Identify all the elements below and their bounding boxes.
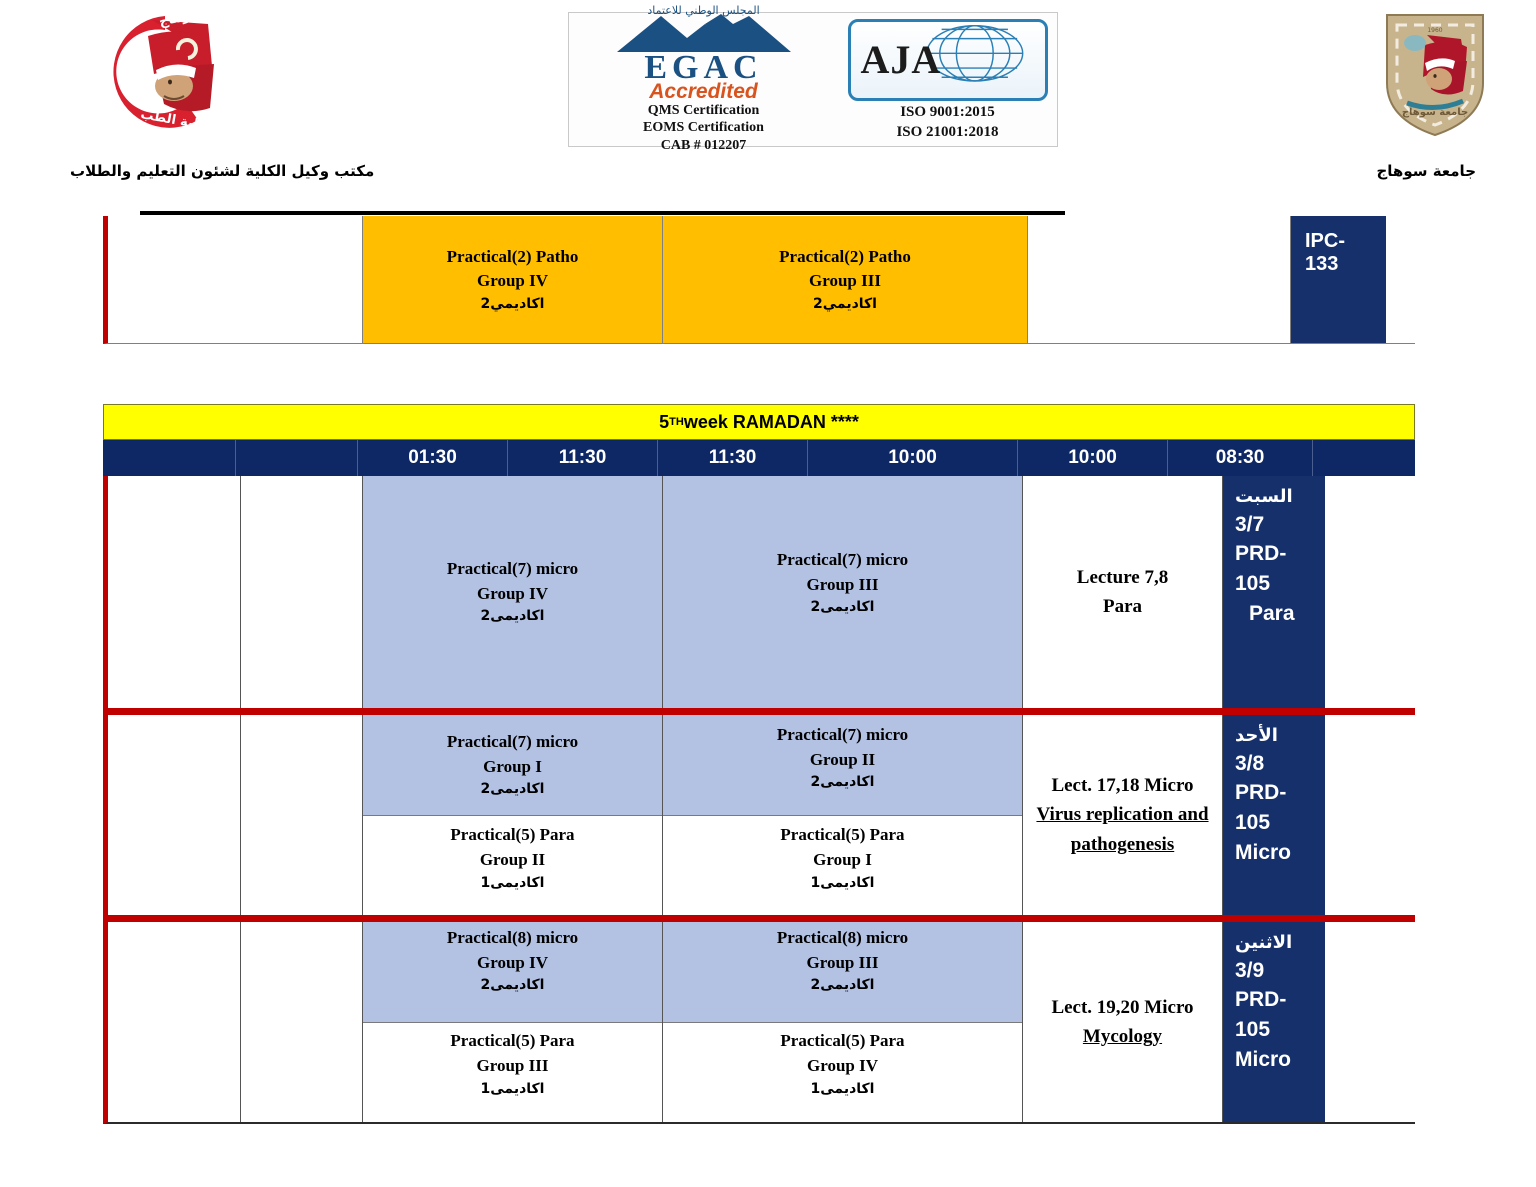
time-header-0130: 01:30	[358, 440, 508, 476]
sat-right-line1: Practical(7) micro	[777, 548, 908, 573]
aja-line-2: ISO 21001:2018	[848, 123, 1048, 141]
top-course-code: IPC- 133	[1291, 216, 1386, 343]
sun-right-room: اكاديمى2	[777, 772, 908, 792]
mon-right-line1: Practical(8) micro	[777, 926, 908, 951]
sunday-slot-right[interactable]: Practical(7) micro Group II اكاديمى2 Pra…	[663, 715, 1023, 915]
sunday-practical-micro-group1[interactable]: Practical(7) micro Group I اكاديمى2	[363, 715, 662, 816]
egac-line-1: QMS Certification	[579, 103, 829, 120]
monday-date: 3/9	[1235, 956, 1264, 986]
egac-accredited-label: Accredited	[579, 81, 829, 102]
top-cell-practical-patho-group3[interactable]: Practical(2) Patho Group III اكاديمي2	[663, 216, 1028, 343]
sun-left2-line2: Group II	[450, 848, 574, 873]
time-header-blank-3	[1313, 440, 1415, 476]
saturday-date: 3/7	[1235, 510, 1264, 540]
vice-dean-office-label: مكتب وكيل الكلية لشئون التعليم والطلاب	[70, 162, 374, 180]
sat-right-room: اكاديمى2	[777, 597, 908, 617]
aja-line-1: ISO 9001:2015	[848, 103, 1048, 121]
egac-line-2: EOMS Certification	[579, 120, 829, 137]
monday-empty-2	[241, 922, 363, 1122]
saturday-code-2: 105	[1235, 569, 1270, 599]
top-cell-1-line2: Group IV	[447, 269, 579, 294]
page-header: جامعة سوهاج كلية الطب المجلس الوطني للاع…	[0, 0, 1536, 200]
sun-right2-line2: Group I	[780, 848, 904, 873]
sun-right2-line1: Practical(5) Para	[780, 823, 904, 848]
mon-right-line2: Group III	[777, 951, 908, 976]
week-banner-ordinal-suffix: TH	[669, 416, 684, 428]
sat-lecture-line2: Para	[1077, 592, 1168, 621]
sunday-day-column: الأحد 3/8 PRD- 105 Micro	[1223, 715, 1325, 915]
sunday-code-2: 105	[1235, 808, 1270, 838]
mon-right2-line1: Practical(5) Para	[780, 1029, 904, 1054]
aja-wordmark: AJA	[861, 36, 942, 83]
top-course-code-line1: IPC-	[1305, 230, 1345, 253]
sun-lecture-topic: Virus replication and pathogenesis	[1036, 804, 1208, 854]
time-header-blank-2	[236, 440, 358, 476]
sunday-day-name: الأحد	[1235, 723, 1278, 749]
weekly-schedule-table: 5TH week RAMADAN **** 01:30 11:30 11:30 …	[103, 404, 1415, 1124]
aja-globe-icon: AJA	[848, 19, 1048, 101]
monday-practical-para-group4[interactable]: Practical(5) Para Group IV اكاديمى1	[663, 1023, 1022, 1123]
time-header-row: 01:30 11:30 11:30 10:00 10:00 08:30	[103, 440, 1415, 476]
aja-badge: AJA ISO 9001:2015 ISO 21001:2018	[848, 19, 1048, 141]
mon-lecture-prefix: Lect. 19,20 Micro	[1051, 993, 1193, 1022]
schedule-row-sunday: Practical(7) micro Group I اكاديمى2 Prac…	[103, 708, 1415, 915]
sun-right-line2: Group II	[777, 748, 908, 773]
monday-lecture-text: Lect. 19,20 Micro Mycology	[1023, 922, 1222, 1122]
top-course-code-line2: 133	[1305, 253, 1345, 276]
saturday-day-column: السبت 3/7 PRD- 105 Para	[1223, 476, 1325, 708]
saturday-slot-left[interactable]: Practical(7) micro Group IV اكاديمى2	[363, 476, 663, 708]
egac-mountain-icon	[609, 12, 799, 52]
mon-left2-line1: Practical(5) Para	[450, 1029, 574, 1054]
mon-left-line2: Group IV	[447, 951, 578, 976]
sun-left-room: اكاديمى2	[447, 779, 578, 799]
university-name-label: جامعة سوهاج	[1376, 162, 1476, 180]
top-cell-1-room: اكاديمي2	[447, 294, 579, 314]
top-cell-2-line2: Group III	[779, 269, 911, 294]
sunday-lecture-cell[interactable]: Lect. 17,18 Micro Virus replication and …	[1023, 715, 1223, 915]
sunday-date: 3/8	[1235, 749, 1264, 779]
sunday-empty-2	[241, 715, 363, 915]
sun-lecture-prefix: Lect. 17,18 Micro	[1051, 775, 1193, 796]
certification-badges: المجلس الوطني للاعتماد EGAC Accredited Q…	[568, 12, 1058, 147]
week-banner: 5TH week RAMADAN ****	[103, 404, 1415, 440]
mon-right-room: اكاديمى2	[777, 975, 908, 995]
mon-lecture-topic: Mycology	[1083, 1022, 1162, 1051]
monday-slot-left[interactable]: Practical(8) micro Group IV اكاديمى2 Pra…	[363, 922, 663, 1122]
svg-text:1960: 1960	[1427, 27, 1442, 34]
sunday-code-1: PRD-	[1235, 778, 1286, 808]
sat-left-room: اكاديمى2	[447, 606, 578, 626]
saturday-subject: Para	[1235, 599, 1295, 629]
mon-right2-line2: Group IV	[780, 1054, 904, 1079]
week-banner-rest: week RAMADAN ****	[684, 412, 859, 433]
saturday-empty-1	[108, 476, 241, 708]
sunday-practical-para-group2[interactable]: Practical(5) Para Group II اكاديمى1	[363, 816, 662, 916]
egac-badge: المجلس الوطني للاعتماد EGAC Accredited Q…	[579, 5, 829, 155]
mon-right2-room: اكاديمى1	[780, 1079, 904, 1099]
sun-right-line1: Practical(7) micro	[777, 723, 908, 748]
saturday-practical-micro-group4[interactable]: Practical(7) micro Group IV اكاديمى2	[363, 476, 662, 708]
time-header-1000-b: 10:00	[1018, 440, 1168, 476]
saturday-lecture-text: Lecture 7,8 Para	[1023, 476, 1222, 708]
sunday-practical-para-group1[interactable]: Practical(5) Para Group I اكاديمى1	[663, 816, 1022, 916]
sat-left-line2: Group IV	[447, 582, 578, 607]
time-header-0830: 08:30	[1168, 440, 1313, 476]
sunday-subject: Micro	[1235, 838, 1291, 868]
monday-subject: Micro	[1235, 1045, 1291, 1075]
schedule-row-monday: Practical(8) micro Group IV اكاديمى2 Pra…	[103, 915, 1415, 1124]
sat-right-line2: Group III	[777, 573, 908, 598]
mon-left2-room: اكاديمى1	[450, 1079, 574, 1099]
time-header-1130-b: 11:30	[658, 440, 808, 476]
top-cell-empty-1	[108, 216, 363, 343]
top-rule	[140, 211, 1065, 215]
saturday-empty-2	[241, 476, 363, 708]
university-crest: جامعة سوهاج 1960	[1375, 5, 1495, 140]
sunday-slot-left[interactable]: Practical(7) micro Group I اكاديمى2 Prac…	[363, 715, 663, 915]
sat-left-line1: Practical(7) micro	[447, 557, 578, 582]
saturday-code-1: PRD-	[1235, 539, 1286, 569]
top-cell-empty-2	[1028, 216, 1291, 343]
monday-slot-right[interactable]: Practical(8) micro Group III اكاديمى2 Pr…	[663, 922, 1023, 1122]
sunday-empty-1	[108, 715, 241, 915]
sun-left2-room: اكاديمى1	[450, 873, 574, 893]
monday-practical-para-group3[interactable]: Practical(5) Para Group III اكاديمى1	[363, 1023, 662, 1123]
sun-left-line1: Practical(7) micro	[447, 730, 578, 755]
top-schedule-table: Practical(2) Patho Group IV اكاديمي2 Pra…	[103, 216, 1415, 344]
monday-empty-1	[108, 922, 241, 1122]
mon-left-room: اكاديمى2	[447, 975, 578, 995]
monday-practical-micro-group4[interactable]: Practical(8) micro Group IV اكاديمى2	[363, 922, 662, 1023]
sunday-lecture-text: Lect. 17,18 Micro Virus replication and …	[1023, 715, 1222, 915]
schedule-row-saturday: Practical(7) micro Group IV اكاديمى2 Pra…	[103, 476, 1415, 708]
monday-lecture-cell[interactable]: Lect. 19,20 Micro Mycology	[1023, 922, 1223, 1122]
top-cell-2-line1: Practical(2) Patho	[779, 245, 911, 270]
saturday-lecture-cell[interactable]: Lecture 7,8 Para	[1023, 476, 1223, 708]
egac-line-3: CAB # 012207	[579, 138, 829, 155]
top-table-row: Practical(2) Patho Group IV اكاديمي2 Pra…	[103, 216, 1415, 344]
monday-day-column: الاثنين 3/9 PRD- 105 Micro	[1223, 922, 1325, 1122]
monday-code-2: 105	[1235, 1015, 1270, 1045]
sun-right2-room: اكاديمى1	[780, 873, 904, 893]
sun-left-line2: Group I	[447, 755, 578, 780]
week-banner-ordinal: 5	[659, 412, 669, 433]
saturday-practical-micro-group3[interactable]: Practical(7) micro Group III اكاديمى2	[663, 476, 1022, 708]
time-header-1000-a: 10:00	[808, 440, 1018, 476]
monday-practical-micro-group3[interactable]: Practical(8) micro Group III اكاديمى2	[663, 922, 1022, 1023]
top-cell-practical-patho-group4[interactable]: Practical(2) Patho Group IV اكاديمي2	[363, 216, 663, 343]
top-cell-1-line1: Practical(2) Patho	[447, 245, 579, 270]
mon-left-line1: Practical(8) micro	[447, 926, 578, 951]
saturday-day-name: السبت	[1235, 484, 1293, 510]
svg-text:جامعة سوهاج: جامعة سوهاج	[1402, 107, 1468, 118]
monday-code-1: PRD-	[1235, 985, 1286, 1015]
monday-day-name: الاثنين	[1235, 930, 1292, 956]
time-header-blank-1	[103, 440, 236, 476]
mon-left2-line2: Group III	[450, 1054, 574, 1079]
saturday-slot-right[interactable]: Practical(7) micro Group III اكاديمى2	[663, 476, 1023, 708]
sunday-practical-micro-group2[interactable]: Practical(7) micro Group II اكاديمى2	[663, 715, 1022, 816]
sat-lecture-line1: Lecture 7,8	[1077, 563, 1168, 592]
sun-left2-line1: Practical(5) Para	[450, 823, 574, 848]
time-header-1130-a: 11:30	[508, 440, 658, 476]
top-cell-2-room: اكاديمي2	[779, 294, 911, 314]
faculty-logo: جامعة سوهاج كلية الطب	[90, 8, 240, 138]
